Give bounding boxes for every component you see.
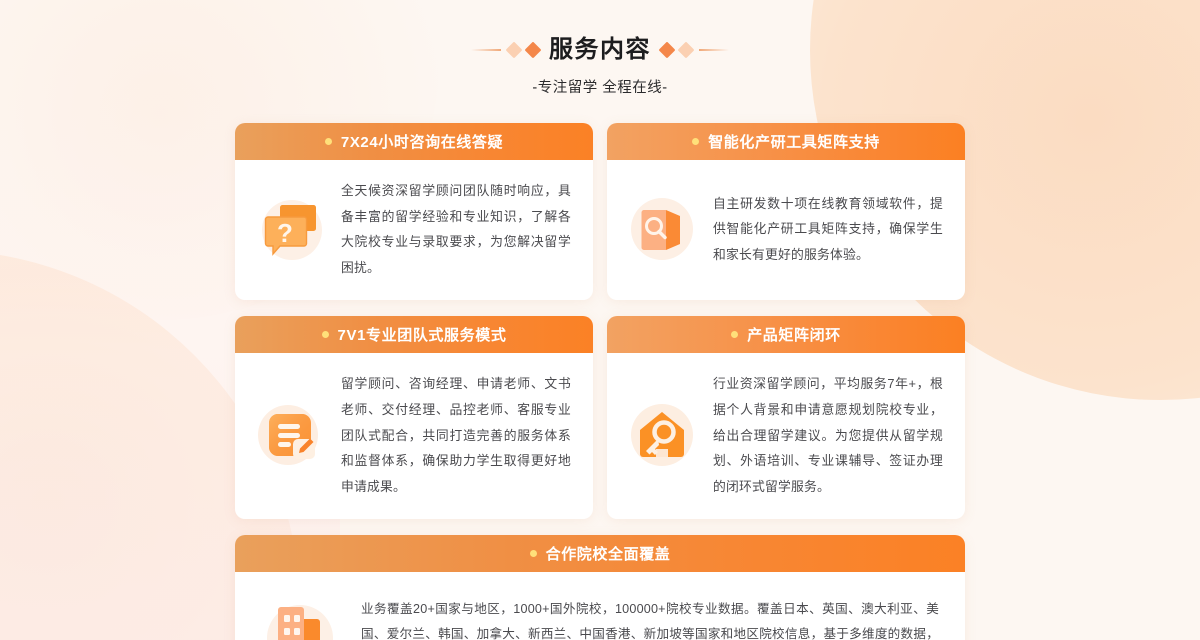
card-body: 自主研发数十项在线教育领域软件，提供智能化产研工具矩阵支持，确保学生和家长有更好… bbox=[607, 160, 965, 300]
deco-line-left bbox=[471, 49, 501, 51]
chat-question-icon: ? bbox=[253, 192, 327, 266]
diamond-dark-icon bbox=[525, 42, 542, 59]
bullet-dot-icon bbox=[325, 138, 332, 145]
bullet-dot-icon bbox=[692, 138, 699, 145]
document-edit-icon bbox=[253, 398, 327, 472]
service-card[interactable]: 智能化产研工具矩阵支持 自主研发数十项在线教育领域软件，提供智能化产研工具矩阵支… bbox=[607, 123, 965, 300]
bullet-dot-icon bbox=[530, 550, 537, 557]
house-key-icon bbox=[625, 398, 699, 472]
service-card-grid: 7X24小时咨询在线答疑 ? 全天候资深留学顾问团队随时响应，具备丰富的留学经验… bbox=[235, 123, 965, 640]
card-body: 业务覆盖20+国家与地区，1000+国外院校，100000+院校专业数据。覆盖日… bbox=[235, 572, 965, 640]
folder-search-icon bbox=[625, 192, 699, 266]
bullet-dot-icon bbox=[322, 331, 329, 338]
bullet-dot-icon bbox=[731, 331, 738, 338]
page-title: 服务内容 bbox=[549, 38, 651, 62]
card-header: 产品矩阵闭环 bbox=[607, 316, 965, 353]
card-body: 留学顾问、咨询经理、申请老师、文书老师、交付经理、品控老师、客服专业团队式配合，… bbox=[235, 353, 593, 519]
card-description: 行业资深留学顾问，平均服务7年+，根据个人背景和申请意愿规划院校专业，给出合理留… bbox=[713, 371, 943, 499]
card-description: 留学顾问、咨询经理、申请老师、文书老师、交付经理、品控老师、客服专业团队式配合，… bbox=[341, 371, 571, 499]
section-header: 服务内容 -专注留学 全程在线- bbox=[0, 0, 1200, 97]
diamond-pair-right-icon bbox=[661, 44, 729, 56]
card-title: 合作院校全面覆盖 bbox=[546, 543, 671, 564]
card-header: 智能化产研工具矩阵支持 bbox=[607, 123, 965, 160]
svg-text:?: ? bbox=[277, 218, 293, 248]
diamond-pair-left-icon bbox=[471, 44, 539, 56]
title-row: 服务内容 bbox=[0, 38, 1200, 62]
card-header: 7X24小时咨询在线答疑 bbox=[235, 123, 593, 160]
deco-line-right bbox=[699, 49, 729, 51]
service-card[interactable]: 7X24小时咨询在线答疑 ? 全天候资深留学顾问团队随时响应，具备丰富的留学经验… bbox=[235, 123, 593, 300]
card-title: 产品矩阵闭环 bbox=[747, 324, 841, 345]
diamond-dark-icon bbox=[659, 42, 676, 59]
card-description: 业务覆盖20+国家与地区，1000+国外院校，100000+院校专业数据。覆盖日… bbox=[361, 597, 939, 640]
card-header: 7V1专业团队式服务模式 bbox=[235, 316, 593, 353]
card-body: 行业资深留学顾问，平均服务7年+，根据个人背景和申请意愿规划院校专业，给出合理留… bbox=[607, 353, 965, 519]
card-title: 7X24小时咨询在线答疑 bbox=[341, 131, 503, 152]
card-title: 智能化产研工具矩阵支持 bbox=[708, 131, 880, 152]
service-content-page: 服务内容 -专注留学 全程在线- 7X24小时咨询在线答疑 bbox=[0, 0, 1200, 640]
page-subtitle: -专注留学 全程在线- bbox=[0, 76, 1200, 97]
service-card[interactable]: 产品矩阵闭环 行业资深留学顾问，平均服务7年+，根据个人背景和申请意愿规划院校专… bbox=[607, 316, 965, 519]
card-description: 全天候资深留学顾问团队随时响应，具备丰富的留学经验和专业知识，了解各大院校专业与… bbox=[341, 178, 571, 280]
service-card[interactable]: 7V1专业团队式服务模式 bbox=[235, 316, 593, 519]
building-icon bbox=[257, 592, 343, 640]
card-title: 7V1专业团队式服务模式 bbox=[338, 324, 507, 345]
card-description: 自主研发数十项在线教育领域软件，提供智能化产研工具矩阵支持，确保学生和家长有更好… bbox=[713, 191, 943, 268]
diamond-light-icon bbox=[506, 42, 523, 59]
card-header: 合作院校全面覆盖 bbox=[235, 535, 965, 572]
card-body: ? 全天候资深留学顾问团队随时响应，具备丰富的留学经验和专业知识，了解各大院校专… bbox=[235, 160, 593, 300]
diamond-light-icon bbox=[678, 42, 695, 59]
service-card[interactable]: 合作院校全面覆盖 bbox=[235, 535, 965, 640]
